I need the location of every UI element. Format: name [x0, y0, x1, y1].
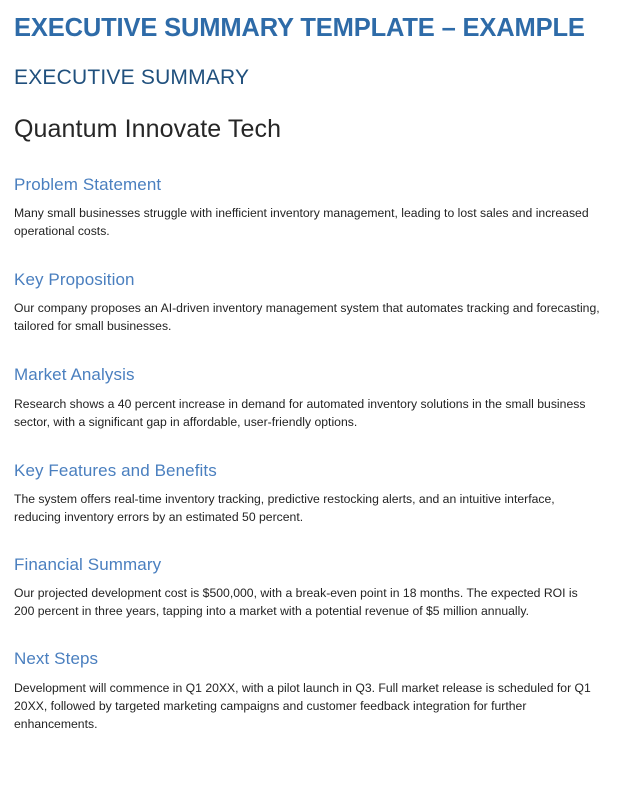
section-body: Our projected development cost is $500,0…: [14, 575, 600, 620]
section-body: Development will commence in Q1 20XX, wi…: [14, 670, 600, 733]
document-title: EXECUTIVE SUMMARY TEMPLATE – EXAMPLE: [14, 0, 606, 43]
organization-name: Quantum Innovate Tech: [14, 91, 606, 144]
section-key-proposition: Key Proposition Our company proposes an …: [14, 240, 606, 335]
section-next-steps: Next Steps Development will commence in …: [14, 620, 606, 732]
section-problem-statement: Problem Statement Many small businesses …: [14, 144, 606, 240]
section-body: Research shows a 40 percent increase in …: [14, 386, 600, 431]
section-body: The system offers real-time inventory tr…: [14, 481, 600, 526]
document-subtitle: EXECUTIVE SUMMARY: [14, 43, 606, 90]
section-market-analysis: Market Analysis Research shows a 40 perc…: [14, 335, 606, 430]
section-body: Many small businesses struggle with inef…: [14, 195, 600, 240]
section-heading: Market Analysis: [14, 365, 606, 385]
document-page: EXECUTIVE SUMMARY TEMPLATE – EXAMPLE EXE…: [0, 0, 636, 791]
section-heading: Problem Statement: [14, 175, 606, 195]
section-financial-summary: Financial Summary Our projected developm…: [14, 526, 606, 620]
section-key-features-and-benefits: Key Features and Benefits The system off…: [14, 431, 606, 526]
section-heading: Key Proposition: [14, 270, 606, 290]
section-heading: Next Steps: [14, 649, 606, 669]
section-heading: Financial Summary: [14, 555, 606, 575]
section-heading: Key Features and Benefits: [14, 461, 606, 481]
section-body: Our company proposes an AI-driven invent…: [14, 290, 600, 335]
document-content: EXECUTIVE SUMMARY TEMPLATE – EXAMPLE EXE…: [14, 0, 606, 733]
